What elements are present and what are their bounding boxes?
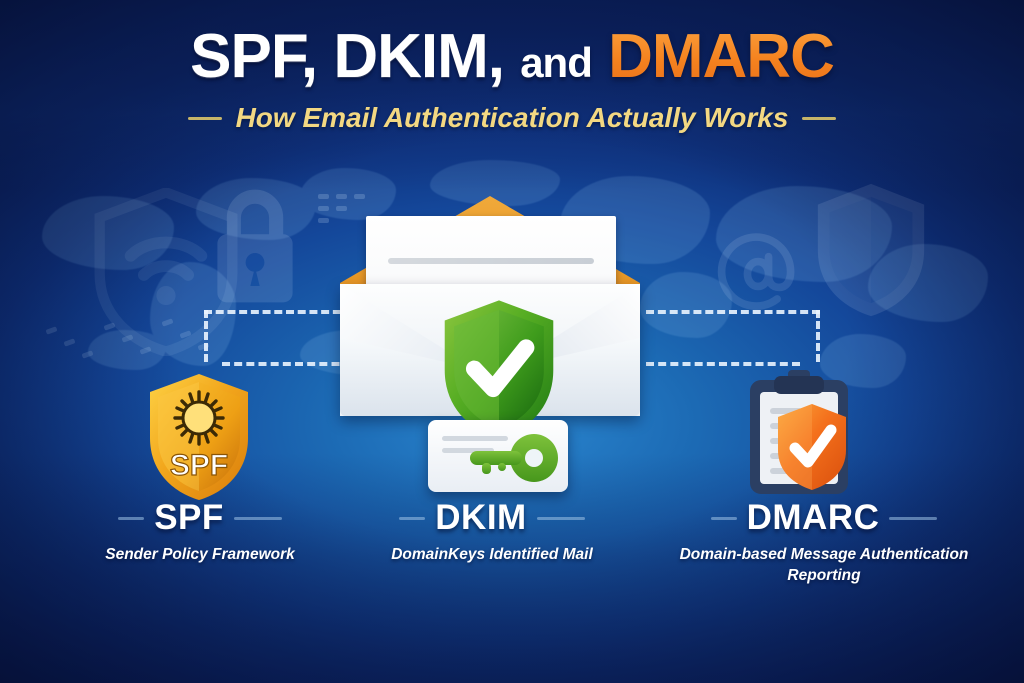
- rule-right: [889, 517, 937, 520]
- spf-badge-text: SPF: [170, 449, 228, 482]
- dmarc-description-line1: Domain-based Message Authentication: [644, 545, 1004, 566]
- infographic-canvas: SPF, DKIM, and DMARC How Email Authentic…: [0, 0, 1024, 683]
- rule-left: [118, 517, 144, 520]
- green-key-card-icon: [428, 420, 568, 492]
- dkim-description: DomainKeys Identified Mail: [312, 545, 672, 566]
- dkim-name-row: DKIM: [312, 498, 672, 538]
- pillar-label-dkim: DKIM DomainKeys Identified Mail: [312, 498, 672, 566]
- dmarc-name-row: DMARC: [644, 498, 1004, 538]
- subtitle-rule-right: [802, 117, 836, 120]
- subtitle-row: How Email Authentication Actually Works: [0, 102, 1024, 134]
- title-part-dmarc: DMARC: [608, 22, 834, 91]
- dmarc-description-line2: Reporting: [644, 566, 1004, 587]
- header: SPF, DKIM, and DMARC How Email Authentic…: [0, 26, 1024, 134]
- envelope-group: [318, 188, 663, 438]
- pillar-label-dmarc: DMARC Domain-based Message Authenticatio…: [644, 498, 1004, 587]
- rule-right: [234, 517, 282, 520]
- spf-name: SPF: [154, 498, 224, 538]
- clipboard-orange-shield-check-icon: [738, 368, 860, 498]
- subtitle-rule-left: [188, 117, 222, 120]
- dkim-name: DKIM: [435, 498, 526, 538]
- title-part-and: and: [520, 39, 592, 86]
- rule-left: [399, 517, 425, 520]
- title-part-dkim: DKIM,: [333, 22, 504, 91]
- page-title: SPF, DKIM, and DMARC: [0, 26, 1024, 88]
- title-part-spf: SPF,: [190, 22, 317, 91]
- page-subtitle: How Email Authentication Actually Works: [236, 102, 789, 134]
- rule-left: [711, 517, 737, 520]
- rule-right: [537, 517, 585, 520]
- dmarc-name: DMARC: [747, 498, 880, 538]
- gold-shield-sun-icon: SPF: [146, 372, 252, 502]
